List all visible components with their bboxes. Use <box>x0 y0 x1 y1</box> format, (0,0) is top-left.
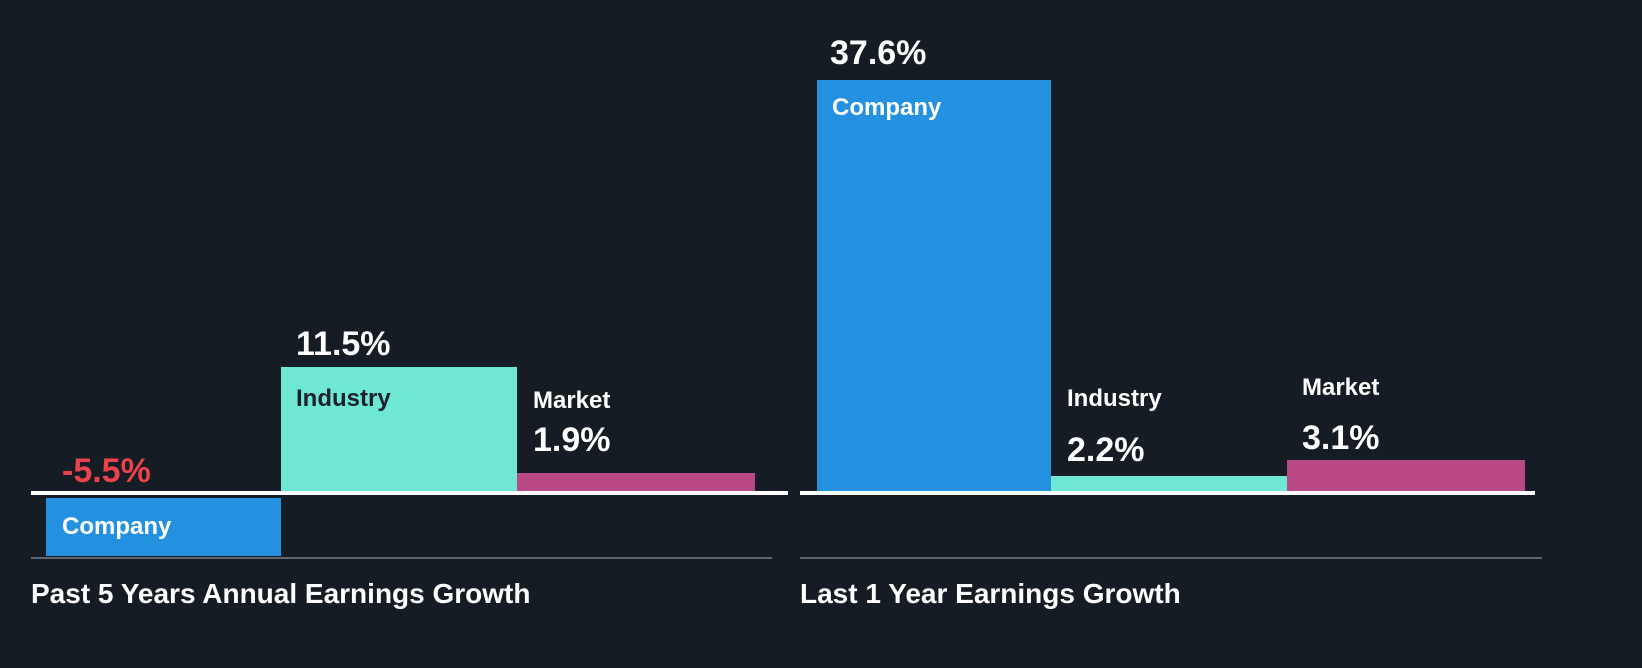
bar-label-company: Company <box>62 515 171 539</box>
bar-value-market: 1.9% <box>533 423 611 457</box>
bar-label-market: Market <box>533 389 610 413</box>
bar-label-market: Market <box>1302 376 1379 400</box>
zero-baseline <box>31 491 788 495</box>
bar-value-market: 3.1% <box>1302 421 1380 455</box>
bar-market[interactable] <box>1287 460 1525 494</box>
axis-line <box>800 557 1542 559</box>
bar-value-company: -5.5% <box>62 454 151 488</box>
chart-title: Last 1 Year Earnings Growth <box>800 580 1181 608</box>
bar-company[interactable] <box>817 80 1051 494</box>
earnings-growth-chart-figure: Company -5.5% Industry 11.5% Market 1.9%… <box>0 0 1642 668</box>
bar-value-industry: 2.2% <box>1067 433 1145 467</box>
chart-title: Past 5 Years Annual Earnings Growth <box>31 580 531 608</box>
chart-panel-last-1-year: Company 37.6% Industry 2.2% Market 3.1% … <box>800 0 1642 668</box>
bar-label-company: Company <box>832 96 941 120</box>
zero-baseline <box>800 491 1535 495</box>
bar-value-industry: 11.5% <box>296 327 391 361</box>
bar-label-industry: Industry <box>296 387 391 411</box>
bar-label-industry: Industry <box>1067 387 1162 411</box>
bar-value-company: 37.6% <box>830 36 926 70</box>
axis-line <box>31 557 772 559</box>
chart-panel-past-5-years: Company -5.5% Industry 11.5% Market 1.9%… <box>0 0 790 668</box>
